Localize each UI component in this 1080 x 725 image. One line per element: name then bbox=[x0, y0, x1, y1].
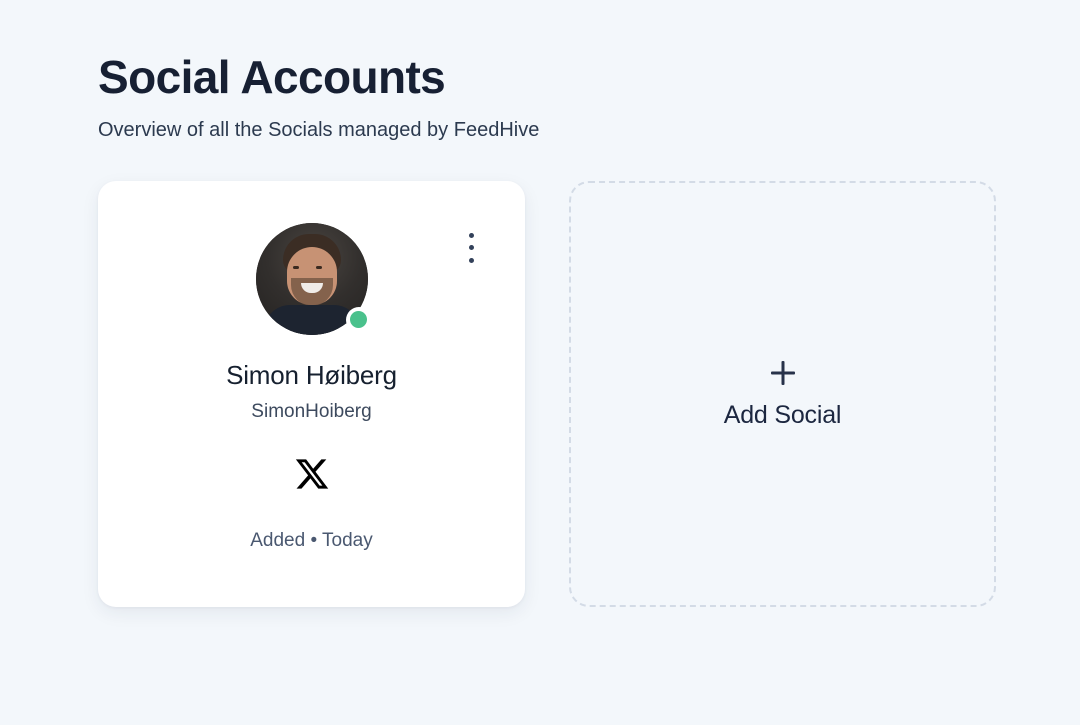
page-subtitle: Overview of all the Socials managed by F… bbox=[98, 117, 1080, 143]
account-name: Simon Høiberg bbox=[226, 361, 397, 390]
add-social-label: Add Social bbox=[724, 402, 842, 430]
page-title: Social Accounts bbox=[98, 52, 1080, 104]
kebab-dot bbox=[469, 233, 474, 238]
avatar-eye-left bbox=[293, 266, 299, 269]
kebab-menu-icon[interactable] bbox=[460, 231, 482, 265]
social-account-card[interactable]: Simon Høiberg SimonHoiberg Added • Today bbox=[98, 181, 525, 607]
account-handle: SimonHoiberg bbox=[251, 402, 371, 423]
plus-icon bbox=[768, 358, 798, 388]
account-added-meta: Added • Today bbox=[250, 531, 373, 552]
kebab-dot bbox=[469, 245, 474, 250]
avatar-eye-right bbox=[316, 266, 322, 269]
avatar-wrap bbox=[256, 223, 368, 335]
social-accounts-page: Social Accounts Overview of all the Soci… bbox=[0, 0, 1080, 725]
add-social-card[interactable]: Add Social bbox=[569, 181, 996, 607]
status-online-icon bbox=[346, 307, 372, 333]
social-accounts-grid: Simon Høiberg SimonHoiberg Added • Today… bbox=[98, 181, 1080, 607]
status-dot-fill bbox=[350, 311, 367, 328]
x-twitter-icon bbox=[293, 455, 331, 493]
kebab-dot bbox=[469, 258, 474, 263]
